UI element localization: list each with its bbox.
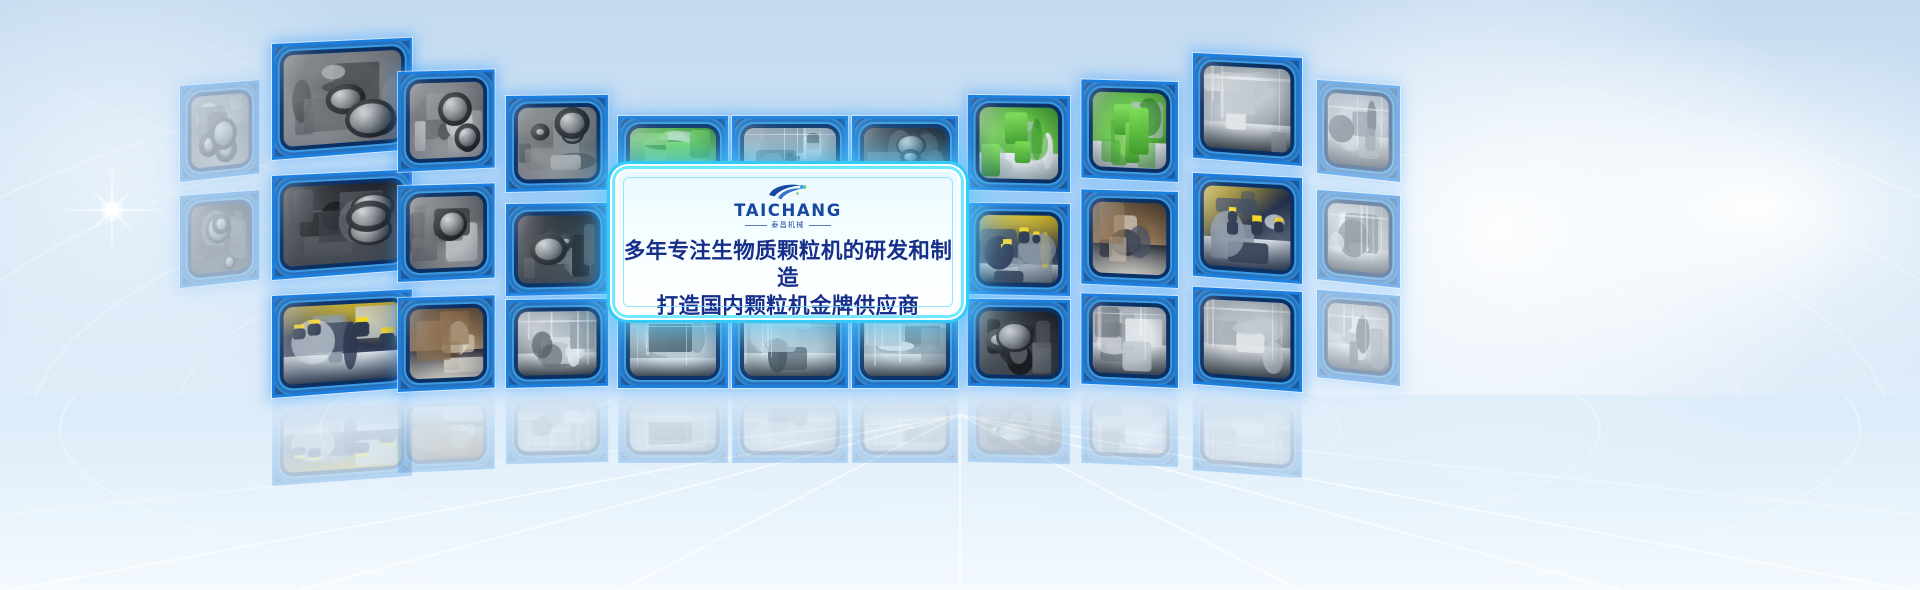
- tile-frame: [180, 190, 259, 288]
- photo-tile[interactable]: [272, 38, 412, 160]
- center-slogan-panel: TAICHANG 泰昌机械 多年专注生物质颗粒机的研发和制造 打造国内颗粒机金牌…: [618, 172, 958, 312]
- photo-tile-reflection: [968, 391, 1070, 464]
- photo-tile[interactable]: [968, 95, 1070, 192]
- tile-frame: [1317, 80, 1400, 182]
- tile-photo: [979, 311, 1058, 376]
- tile-photo: [744, 314, 836, 376]
- tile-frame: [1081, 389, 1178, 467]
- banner-stage: TAICHANG 泰昌机械 多年专注生物质颗粒机的研发和制造 打造国内颗粒机金牌…: [0, 0, 1920, 590]
- photo-tile[interactable]: [506, 95, 608, 192]
- photo-tile-reflection: [1193, 391, 1302, 478]
- photo-tile[interactable]: [1317, 290, 1400, 386]
- tile-photo: [284, 50, 402, 147]
- photo-tile[interactable]: [1081, 79, 1178, 182]
- tile-photo: [518, 107, 597, 180]
- tile-photo: [410, 81, 483, 159]
- tile-photo: [518, 403, 597, 452]
- photo-tile[interactable]: [398, 69, 495, 172]
- tile-photo: [518, 215, 597, 284]
- tile-photo: [1204, 403, 1291, 465]
- tile-frame: [272, 289, 412, 398]
- tile-photo: [630, 314, 716, 376]
- photo-tile[interactable]: [1193, 287, 1302, 392]
- slogan-line-1: 多年专注生物质颗粒机的研发和制造: [624, 239, 953, 292]
- tile-frame: [1193, 53, 1302, 166]
- tile-photo: [191, 203, 248, 275]
- tile-frame: [852, 392, 958, 463]
- photo-tile[interactable]: [398, 183, 495, 282]
- photo-tile-reflection: [732, 392, 848, 463]
- tile-frame: [1081, 189, 1178, 288]
- photo-tile-reflection: [1081, 389, 1178, 467]
- tile-photo: [191, 93, 248, 169]
- photo-tile[interactable]: [272, 169, 412, 280]
- tile-photo: [1093, 91, 1166, 169]
- tile-frame: [732, 392, 848, 463]
- photo-tile[interactable]: [398, 295, 495, 392]
- tile-frame: [1317, 290, 1400, 386]
- photo-tile[interactable]: [506, 203, 608, 296]
- tile-photo: [410, 307, 483, 379]
- photo-tile[interactable]: [506, 299, 608, 388]
- photo-tile[interactable]: [180, 190, 259, 288]
- photo-tile[interactable]: [272, 289, 412, 398]
- tile-photo: [1093, 401, 1166, 454]
- photo-tile-reflection: [618, 392, 728, 463]
- photo-tile[interactable]: [968, 203, 1070, 296]
- tile-photo: [284, 181, 402, 267]
- photo-tile[interactable]: [180, 80, 259, 182]
- tile-frame: [272, 169, 412, 280]
- tile-frame: [506, 299, 608, 388]
- tile-photo: [284, 301, 402, 385]
- tile-photo: [1204, 299, 1291, 379]
- tile-photo: [864, 404, 946, 451]
- tile-frame: [398, 183, 495, 282]
- tile-frame: [1081, 79, 1178, 182]
- tile-photo: [979, 215, 1058, 284]
- tile-photo: [410, 195, 483, 269]
- tile-frame: [1193, 173, 1302, 284]
- tile-photo: [979, 107, 1058, 180]
- tile-photo: [630, 404, 716, 451]
- tile-photo: [1204, 185, 1291, 271]
- slogan-block: 多年专注生物质颗粒机的研发和制造 打造国内颗粒机金牌供应商: [618, 238, 958, 322]
- photo-tile-reflection: [506, 391, 608, 464]
- tile-frame: [272, 395, 412, 486]
- tile-frame: [398, 295, 495, 392]
- tile-photo: [1328, 202, 1389, 275]
- slogan-line-2: 打造国内颗粒机金牌供应商: [618, 293, 958, 321]
- tile-frame: [968, 299, 1070, 388]
- tile-frame: [1193, 287, 1302, 392]
- tile-frame: [1317, 190, 1400, 288]
- logo-wordmark: TAICHANG: [734, 203, 842, 220]
- tile-photo: [1093, 201, 1166, 275]
- tile-photo: [1093, 305, 1166, 375]
- photo-tile[interactable]: [1081, 293, 1178, 388]
- logo-rule-left: [745, 225, 767, 226]
- photo-tile-reflection: [398, 393, 495, 473]
- photo-tile[interactable]: [1193, 53, 1302, 166]
- tile-frame: [968, 391, 1070, 464]
- tile-frame: [1081, 293, 1178, 388]
- tile-photo: [744, 404, 836, 451]
- tile-photo: [864, 314, 946, 376]
- tile-frame: [968, 203, 1070, 296]
- logo-chinese-text: 泰昌机械: [771, 222, 804, 229]
- tile-photo: [518, 311, 597, 376]
- tile-frame: [968, 95, 1070, 192]
- tile-frame: [618, 392, 728, 463]
- tile-frame: [398, 393, 495, 473]
- tile-frame: [506, 95, 608, 192]
- photo-tile-reflection: [272, 395, 412, 486]
- logo-rule-right: [809, 225, 831, 226]
- tile-photo: [1328, 302, 1389, 373]
- tile-frame: [506, 203, 608, 296]
- tile-frame: [398, 69, 495, 172]
- photo-tile[interactable]: [1317, 190, 1400, 288]
- photo-tile-reflection: [852, 392, 958, 463]
- company-logo: TAICHANG 泰昌机械: [734, 183, 842, 229]
- tile-photo: [1204, 65, 1291, 153]
- tile-frame: [180, 80, 259, 182]
- tile-frame: [506, 391, 608, 464]
- photo-tile-wall: [0, 0, 1920, 590]
- photo-tile[interactable]: [1081, 189, 1178, 288]
- tile-photo: [410, 405, 483, 460]
- photo-tile[interactable]: [968, 299, 1070, 388]
- tile-frame: [272, 38, 412, 160]
- tile-photo: [979, 403, 1058, 452]
- photo-tile[interactable]: [1193, 173, 1302, 284]
- tile-photo: [284, 407, 402, 473]
- swoosh-bird-logo-icon: [766, 183, 810, 202]
- tile-photo: [1328, 92, 1389, 168]
- logo-chinese-subtitle: 泰昌机械: [745, 222, 830, 229]
- tile-frame: [1193, 391, 1302, 478]
- photo-tile[interactable]: [1317, 80, 1400, 182]
